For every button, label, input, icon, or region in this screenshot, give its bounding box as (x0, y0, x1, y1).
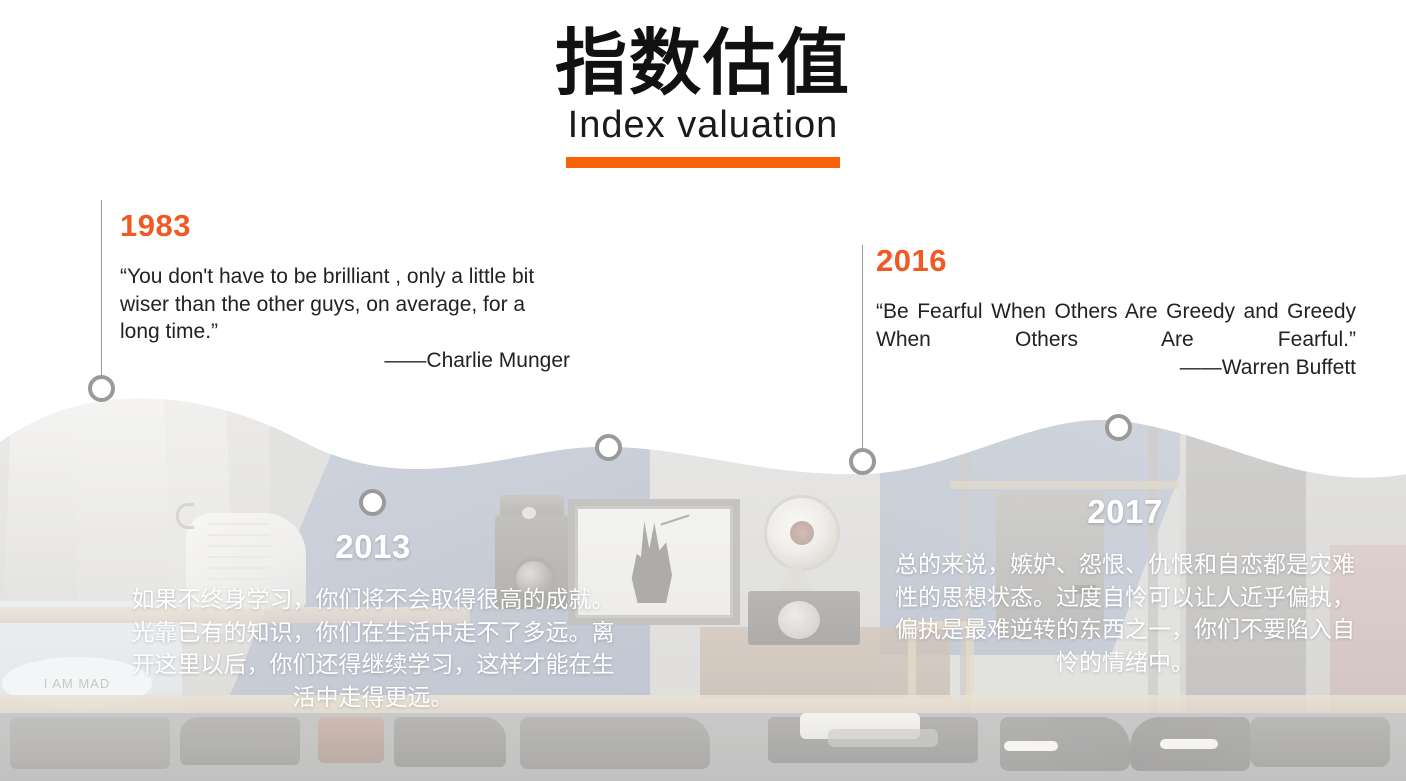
year-label-2016: 2016 (876, 245, 1356, 276)
year-label-1983: 1983 (120, 210, 570, 241)
timeline-marker-2017[interactable] (1105, 414, 1132, 441)
timeline-stem-1983 (101, 200, 102, 385)
timeline-marker-1983[interactable] (88, 375, 115, 402)
timeline-stem-2016 (862, 245, 863, 458)
header: 指数估值 Index valuation (0, 26, 1406, 168)
year-label-2013: 2013 (128, 530, 618, 563)
timeline-marker-2016[interactable] (849, 448, 876, 475)
quote-text-2013: 如果不终身学习，你们将不会取得很高的成就。光靠已有的知识，你们在生活中走不了多远… (128, 583, 618, 714)
quote-text-2016: “Be Fearful When Others Are Greedy and G… (876, 298, 1356, 353)
timeline-entry-1983: 1983 “You don't have to be brilliant , o… (120, 210, 570, 373)
slide-root: I AM MAD (0, 0, 1406, 781)
quote-author-1983: ——Charlie Munger (120, 349, 570, 373)
timeline-marker-mid[interactable] (595, 434, 622, 461)
year-label-2017: 2017 (890, 495, 1360, 528)
timeline-entry-2013: 2013 如果不终身学习，你们将不会取得很高的成就。光靠已有的知识，你们在生活中… (128, 530, 618, 714)
quote-author-2016: ——Warren Buffett (876, 356, 1356, 380)
timeline-entry-2017: 2017 总的来说，嫉妒、怨恨、仇恨和自恋都是灾难性的思想状态。过度自怜可以让人… (890, 495, 1360, 679)
page-title-en: Index valuation (0, 104, 1406, 148)
timeline-marker-2013[interactable] (359, 489, 386, 516)
timeline-entry-2016: 2016 “Be Fearful When Others Are Greedy … (876, 245, 1356, 380)
quote-text-2017: 总的来说，嫉妒、怨恨、仇恨和自恋都是灾难性的思想状态。过度自怜可以让人近乎偏执，… (890, 548, 1360, 679)
quote-text-1983: “You don't have to be brilliant , only a… (120, 263, 570, 346)
title-underline (566, 157, 840, 168)
page-title-cn: 指数估值 (0, 26, 1406, 102)
